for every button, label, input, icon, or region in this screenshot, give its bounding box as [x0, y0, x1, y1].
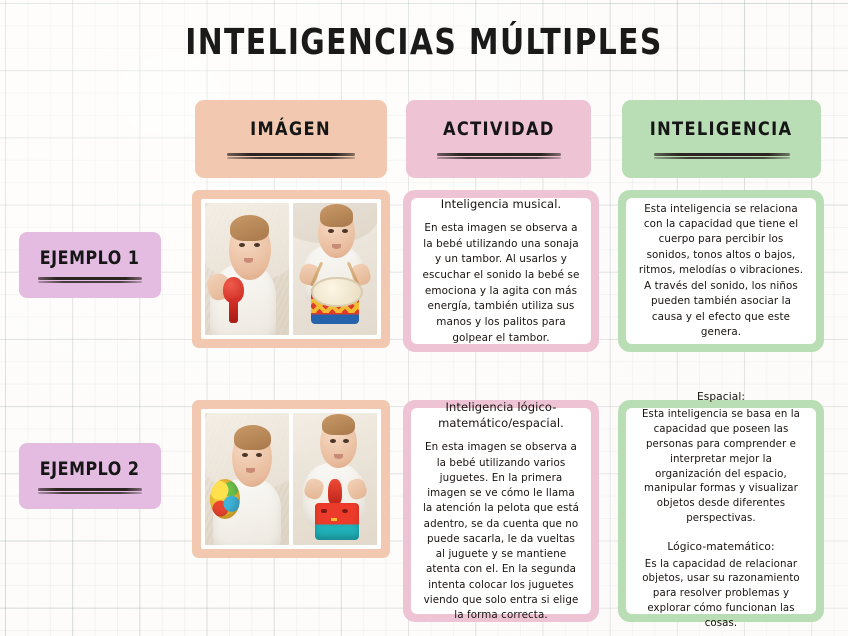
intelligence-card-ejemplo-2: Espacial: Esta inteligencia se basa en l…: [618, 400, 824, 622]
intelligence-heading-logico: Lógico-matemático:: [667, 540, 774, 555]
column-header-imagen-label: IMÁGEN: [251, 118, 332, 140]
intelligence-body-espacial: Esta inteligencia se basa en la capacida…: [637, 408, 805, 526]
row-label-ejemplo-1-label: EJEMPLO 1: [40, 247, 140, 269]
photo-card-ejemplo-1: [192, 190, 390, 348]
poster-canvas: INTELIGENCIAS MÚLTIPLES IMÁGEN ACTIVIDAD…: [0, 0, 848, 636]
intelligence-body: Esta inteligencia se relaciona con la ca…: [637, 202, 805, 341]
activity-card-ejemplo-2: Inteligencia lógico-matemático/espacial.…: [403, 400, 599, 622]
intelligence-heading-espacial: Espacial:: [697, 390, 745, 405]
photo-card-ejemplo-2: [192, 400, 390, 558]
column-header-inteligencia: INTELIGENCIA: [622, 100, 821, 178]
column-header-inteligencia-label: INTELIGENCIA: [650, 118, 793, 140]
column-header-actividad: ACTIVIDAD: [406, 100, 591, 178]
page-title: INTELIGENCIAS MÚLTIPLES: [34, 22, 814, 63]
column-header-imagen: IMÁGEN: [195, 100, 387, 178]
photo-baby-ball: [205, 413, 289, 545]
photo-baby-drum: [293, 203, 377, 335]
photo-baby-shape-sorter: [293, 413, 377, 545]
underline-decoration: [38, 277, 142, 284]
photo-frame: [201, 409, 381, 549]
activity-card-ejemplo-1: Inteligencia musical. En esta imagen se …: [403, 190, 599, 352]
underline-decoration: [654, 153, 790, 160]
activity-heading: Inteligencia lógico-matemático/espacial.: [422, 399, 580, 432]
row-label-ejemplo-2-label: EJEMPLO 2: [40, 458, 140, 480]
row-label-ejemplo-2: EJEMPLO 2: [19, 443, 161, 509]
row-label-ejemplo-1: EJEMPLO 1: [19, 232, 161, 298]
intelligence-body-logico: Es la capacidad de relacionar objetos, u…: [637, 558, 805, 632]
intelligence-card-ejemplo-1: Esta inteligencia se relaciona con la ca…: [618, 190, 824, 352]
underline-decoration: [38, 488, 142, 495]
activity-heading: Inteligencia musical.: [441, 196, 562, 212]
activity-body: En esta imagen se observa a la bebé util…: [422, 440, 580, 623]
photo-baby-rattle: [205, 203, 289, 335]
underline-decoration: [227, 153, 355, 160]
column-header-actividad-label: ACTIVIDAD: [443, 118, 555, 140]
underline-decoration: [437, 153, 561, 160]
activity-body: En esta imagen se observa a la bebé util…: [422, 221, 580, 346]
photo-frame: [201, 199, 381, 339]
